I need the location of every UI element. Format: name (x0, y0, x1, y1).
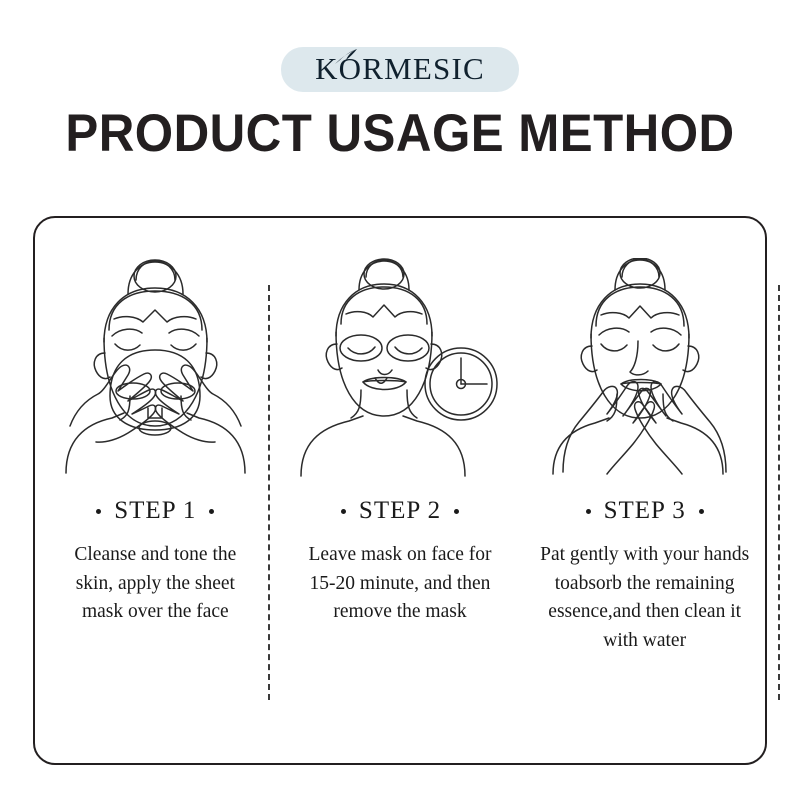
bullet-dot-right-icon (209, 509, 214, 514)
woman-wearing-mask-with-clock-icon (293, 258, 508, 483)
step-2-description: Leave mask on face for 15-20 minute, and… (300, 541, 500, 627)
step-divider-2 (778, 285, 780, 700)
step-divider-1 (268, 285, 270, 700)
step-card-2: STEP 2 Leave mask on face for 15-20 minu… (278, 216, 523, 765)
bullet-dot-left-icon (96, 509, 101, 514)
step-3-description: Pat gently with your hands toabsorb the … (537, 541, 752, 656)
step-3-label: STEP 3 (604, 497, 686, 525)
step-card-1: STEP 1 Cleanse and tone the skin, apply … (33, 216, 278, 765)
page-title: PRODUCT USAGE METHOD (28, 106, 772, 162)
woman-patting-face-icon (537, 258, 752, 483)
bullet-dot-right-icon (699, 509, 704, 514)
step-card-3: STEP 3 Pat gently with your hands toabso… (522, 216, 767, 765)
brand-logo-badge: KORMESIC (0, 47, 800, 92)
step-1-label-row: STEP 1 (96, 497, 214, 525)
woman-applying-sheet-mask-icon (48, 258, 263, 483)
bullet-dot-left-icon (586, 509, 591, 514)
step-1-description: Cleanse and tone the skin, apply the she… (55, 541, 255, 627)
step-3-label-row: STEP 3 (586, 497, 704, 525)
brand-name: KORMESIC (315, 53, 485, 84)
bullet-dot-right-icon (454, 509, 459, 514)
step-2-label: STEP 2 (359, 497, 441, 525)
steps-container: STEP 1 Cleanse and tone the skin, apply … (33, 216, 767, 765)
step-1-label: STEP 1 (114, 497, 196, 525)
step-2-label-row: STEP 2 (341, 497, 459, 525)
brand-badge-pill: KORMESIC (281, 47, 519, 92)
bullet-dot-left-icon (341, 509, 346, 514)
